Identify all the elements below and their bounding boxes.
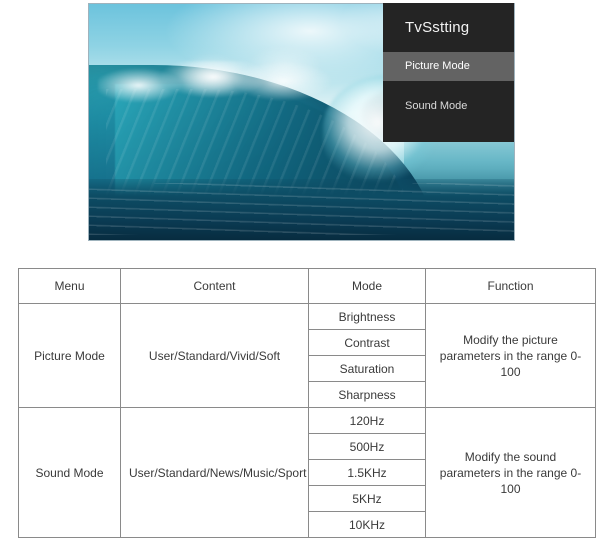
menu-item-sound-mode[interactable]: Sound Mode bbox=[383, 92, 514, 121]
ocean-foam-lines bbox=[89, 183, 514, 235]
cell-content-picture-mode: User/Standard/Vivid/Soft bbox=[121, 304, 309, 408]
cell-function-sound-mode: Modify the sound parameters in the range… bbox=[426, 408, 596, 538]
menu-item-picture-mode[interactable]: Picture Mode bbox=[383, 52, 514, 81]
menu-title: TvSstting bbox=[383, 3, 514, 52]
cell-function-picture-mode: Modify the picture parameters in the ran… bbox=[426, 304, 596, 408]
wave-spray bbox=[132, 32, 396, 93]
cell-mode-120hz: 120Hz bbox=[309, 408, 426, 434]
cell-content-sound-mode: User/Standard/News/Music/Sport bbox=[121, 408, 309, 538]
settings-spec-table: Menu Content Mode Function Picture Mode … bbox=[18, 268, 596, 538]
cell-mode-contrast: Contrast bbox=[309, 330, 426, 356]
table-header-row: Menu Content Mode Function bbox=[19, 269, 596, 304]
table-row: Picture Mode User/Standard/Vivid/Soft Br… bbox=[19, 304, 596, 330]
menu-item-spacer bbox=[383, 81, 514, 92]
header-content: Content bbox=[121, 269, 309, 304]
table-row: Sound Mode User/Standard/News/Music/Spor… bbox=[19, 408, 596, 434]
cell-mode-saturation: Saturation bbox=[309, 356, 426, 382]
cell-mode-500hz: 500Hz bbox=[309, 434, 426, 460]
cell-mode-sharpness: Sharpness bbox=[309, 382, 426, 408]
cell-menu-sound-mode: Sound Mode bbox=[19, 408, 121, 538]
header-function: Function bbox=[426, 269, 596, 304]
cell-mode-5khz: 5KHz bbox=[309, 486, 426, 512]
tv-settings-menu: TvSstting Picture Mode Sound Mode bbox=[383, 3, 514, 142]
cell-mode-brightness: Brightness bbox=[309, 304, 426, 330]
cell-mode-10khz: 10KHz bbox=[309, 512, 426, 538]
cell-mode-1-5khz: 1.5KHz bbox=[309, 460, 426, 486]
header-menu: Menu bbox=[19, 269, 121, 304]
cell-menu-picture-mode: Picture Mode bbox=[19, 304, 121, 408]
header-mode: Mode bbox=[309, 269, 426, 304]
